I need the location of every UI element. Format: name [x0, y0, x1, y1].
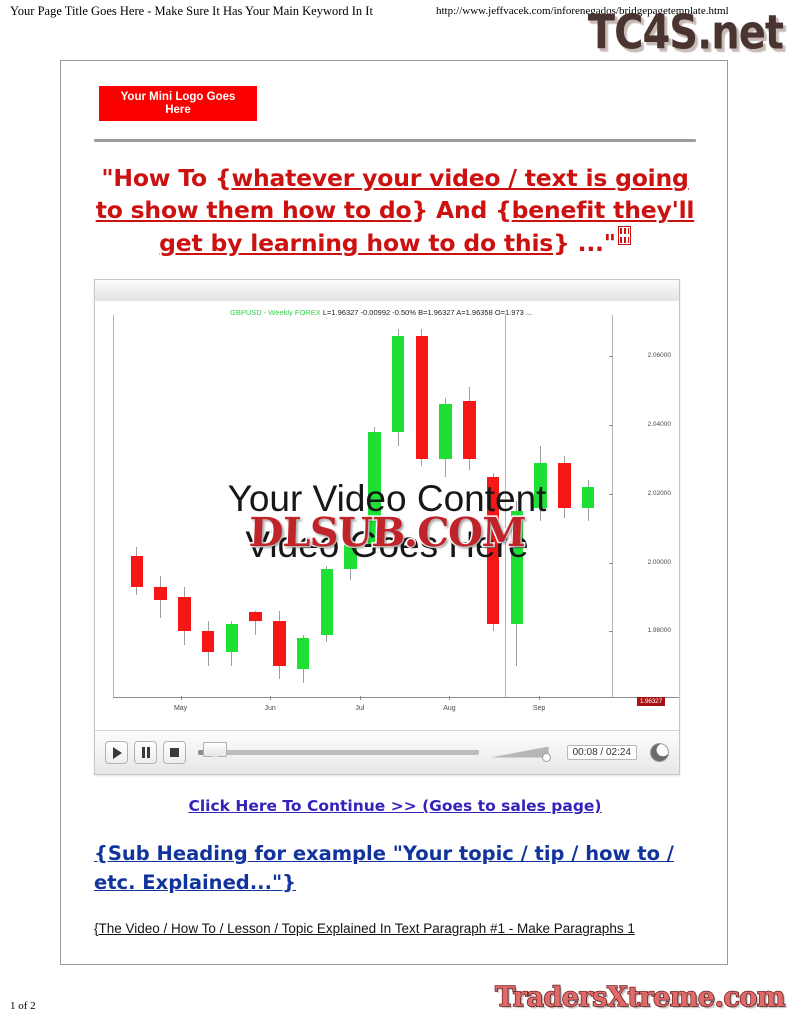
candle-body [463, 401, 475, 459]
video-player[interactable]: GBPUSD - Weekly FOREX L=1.96327 -0.00992… [94, 279, 680, 775]
chart-candle [297, 635, 309, 683]
candle-body [131, 556, 143, 587]
stop-icon [170, 748, 179, 757]
volume-knob[interactable] [542, 753, 551, 762]
chart-x-tick [539, 696, 540, 700]
fullscreen-toggle-icon[interactable] [650, 743, 669, 762]
chart-y-tick [609, 494, 613, 495]
chart-x-label: Jul [355, 705, 364, 712]
chart-candle [416, 329, 428, 467]
progress-track[interactable] [198, 750, 479, 755]
mini-logo-line2: Here [165, 104, 191, 116]
candle-body [582, 487, 594, 508]
chart-y-tick [609, 563, 613, 564]
dlsub-watermark: DLSUB.COM [248, 509, 526, 556]
tc4s-watermark: TC4S.net [588, 6, 783, 60]
chart-candle [439, 398, 451, 477]
play-button[interactable] [105, 741, 128, 764]
chart-x-label: May [174, 705, 187, 712]
candle-body [416, 336, 428, 460]
missing-glyph-icon [618, 226, 631, 245]
headline-part2: } And { [411, 196, 511, 224]
chart-symbol: GBPUSD - Weekly FOREX [230, 308, 321, 317]
chart-y-tick [609, 425, 613, 426]
chart-candle [534, 446, 546, 522]
volume-slider[interactable] [491, 744, 555, 762]
candle-body [534, 463, 546, 508]
chart-axis-right [612, 315, 613, 698]
chart-candle [202, 621, 214, 666]
chart-y-label: 2.04000 [648, 421, 672, 428]
play-icon [113, 747, 122, 759]
chart-x-label: Jun [265, 705, 276, 712]
candle-body [154, 587, 166, 601]
chart-last-price: 1.96327 [637, 697, 665, 706]
tradersxtreme-watermark: TradersXtreme.com [495, 982, 785, 1013]
page-number: 1 of 2 [10, 1000, 36, 1012]
body-paragraph: {The Video / How To / Lesson / Topic Exp… [94, 919, 696, 938]
chart-x-tick [270, 696, 271, 700]
candle-body [273, 621, 285, 666]
mini-logo-line1: Your Mini Logo Goes [121, 91, 236, 103]
player-controls[interactable]: 00:08 / 02:24 [95, 730, 679, 774]
video-stage[interactable]: GBPUSD - Weekly FOREX L=1.96327 -0.00992… [95, 301, 679, 730]
candle-body [558, 463, 570, 508]
chart-y-tick [609, 356, 613, 357]
chart-axis-left [113, 315, 114, 698]
chart-candle [392, 329, 404, 446]
page-headline: "How To {whatever your video / text is g… [94, 162, 696, 259]
headline-part1: "How To { [101, 164, 231, 192]
volume-wedge-icon [491, 747, 549, 758]
candle-body [297, 638, 309, 669]
chart-candle [321, 566, 333, 642]
candle-body [226, 624, 238, 652]
page-sheet: Your Mini Logo Goes Here "How To {whatev… [60, 60, 728, 965]
chart-y-tick [609, 631, 613, 632]
pause-button[interactable] [134, 741, 157, 764]
chart-candle [582, 480, 594, 521]
chart-x-tick [449, 696, 450, 700]
candle-body [321, 569, 333, 634]
chart-title: GBPUSD - Weekly FOREX L=1.96327 -0.00992… [230, 308, 532, 317]
chart-candle [154, 576, 166, 617]
chart-x-tick [181, 696, 182, 700]
progress-bar[interactable] [198, 745, 479, 761]
chart-candle [273, 611, 285, 680]
document-title: Your Page Title Goes Here - Make Sure It… [10, 4, 373, 19]
candle-body [178, 597, 190, 631]
chart-y-label: 1.98000 [648, 627, 672, 634]
sub-heading-link[interactable]: {Sub Heading for example "Your topic / t… [94, 839, 696, 897]
mini-logo-label: Your Mini Logo Goes Here [121, 91, 236, 117]
header-divider [94, 139, 696, 142]
pause-icon [142, 747, 150, 758]
candle-body [249, 612, 261, 621]
mini-logo: Your Mini Logo Goes Here [99, 86, 257, 121]
chart-candle [558, 456, 570, 518]
candle-body [202, 631, 214, 652]
chart-x-label: Aug [443, 705, 455, 712]
chart-stats: L=1.96327 -0.00992 -0.50% B=1.96327 A=1.… [323, 308, 532, 317]
chart-axis-bottom [113, 697, 679, 698]
chart-candle [131, 547, 143, 595]
chart-axis-mid [505, 315, 506, 698]
stop-button[interactable] [163, 741, 186, 764]
chart-x-label: Sep [533, 705, 545, 712]
candle-body [439, 404, 451, 459]
chart-candle [178, 587, 190, 645]
player-topbar [95, 280, 679, 302]
cta-link[interactable]: Click Here To Continue >> (Goes to sales… [94, 797, 696, 815]
page-content: Your Mini Logo Goes Here "How To {whatev… [94, 86, 696, 938]
chart-candle [226, 621, 238, 666]
candle-body [392, 336, 404, 432]
headline-part3: } ..." [553, 229, 616, 257]
chart-y-label: 2.06000 [648, 352, 672, 359]
chart-candle [249, 611, 261, 635]
progress-handle[interactable] [203, 742, 227, 757]
chart-candle [463, 387, 475, 470]
chart-y-label: 2.02000 [648, 490, 672, 497]
timecode-display: 00:08 / 02:24 [567, 745, 637, 760]
chart-x-tick [360, 696, 361, 700]
chart-y-label: 2.00000 [648, 559, 672, 566]
